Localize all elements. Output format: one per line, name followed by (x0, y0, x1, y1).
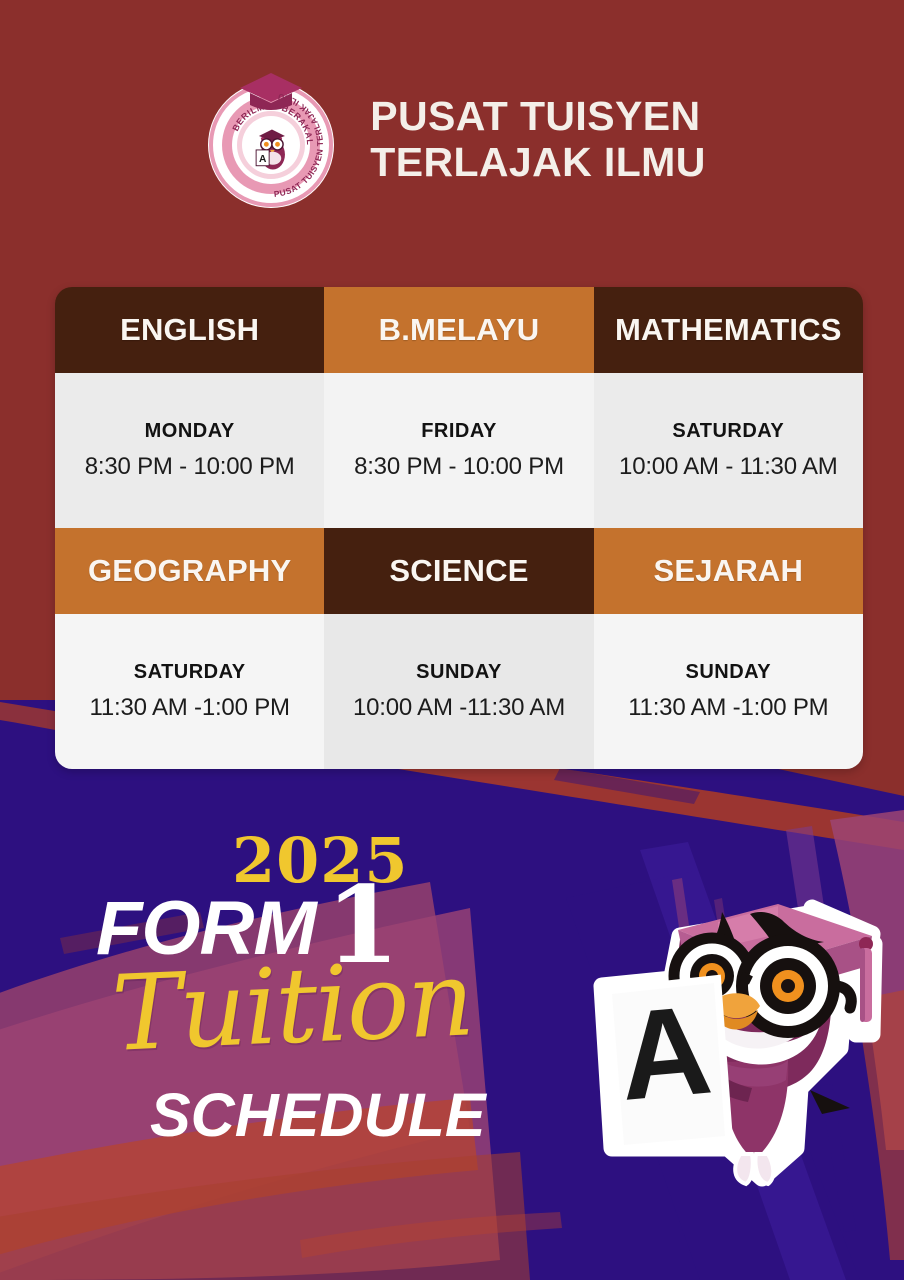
schedule-day: SATURDAY (134, 661, 246, 684)
brand-line-1: PUSAT TUISYEN (370, 93, 700, 139)
logo: PUSAT TUISYEN TERLAJAK ILMU BERILMU • BE… (198, 67, 344, 213)
poster-header: PUSAT TUISYEN TERLAJAK ILMU BERILMU • BE… (0, 52, 904, 227)
schedule-time: 10:00 AM - 11:30 AM (619, 453, 838, 481)
owl-card-icon: A (608, 978, 730, 1150)
poster-title-block: 2025 FORM 1 Tuition SCHEDULE (96, 830, 566, 1160)
subject-header-english: ENGLISH (55, 287, 324, 373)
subject-header-sejarah: SEJARAH (594, 528, 863, 614)
schedule-cell-english: MONDAY 8:30 PM - 10:00 PM (55, 373, 324, 528)
owl-mascot-icon: A (572, 848, 902, 1203)
academy-badge-icon: PUSAT TUISYEN TERLAJAK ILMU BERILMU • BE… (198, 67, 344, 213)
schedule-cell-mathematics: SATURDAY 10:00 AM - 11:30 AM (594, 373, 863, 528)
schedule-cell-geography: SATURDAY 11:30 AM -1:00 PM (55, 614, 324, 769)
schedule-time: 8:30 PM - 10:00 PM (85, 453, 295, 481)
owl-mascot: A (572, 848, 902, 1203)
subject-header-geography: GEOGRAPHY (55, 528, 324, 614)
schedule-time: 11:30 AM -1:00 PM (90, 694, 290, 722)
schedule-time: 10:00 AM -11:30 AM (353, 694, 565, 722)
schedule-day: FRIDAY (421, 420, 497, 443)
schedule-day: SATURDAY (672, 420, 784, 443)
brand-line-2: TERLAJAK ILMU (370, 140, 705, 186)
schedule-cell-science: SUNDAY 10:00 AM -11:30 AM (324, 614, 593, 769)
schedule-time: 11:30 AM -1:00 PM (628, 694, 828, 722)
schedule-day: SUNDAY (686, 661, 772, 684)
schedule-cell-bmelayu: FRIDAY 8:30 PM - 10:00 PM (324, 373, 593, 528)
brand-title: PUSAT TUISYEN TERLAJAK ILMU (370, 94, 705, 186)
title-schedule-word: SCHEDULE (150, 1085, 486, 1146)
schedule-day: MONDAY (145, 420, 235, 443)
subject-header-bmelayu: B.MELAYU (324, 287, 593, 373)
schedule-day: SUNDAY (416, 661, 502, 684)
subject-header-mathematics: MATHEMATICS (594, 287, 863, 373)
schedule-cell-sejarah: SUNDAY 11:30 AM -1:00 PM (594, 614, 863, 769)
schedule-time: 8:30 PM - 10:00 PM (354, 453, 564, 481)
logo-card-letter: A (259, 154, 267, 165)
title-tuition-script: Tuition (110, 946, 474, 1066)
poster-root: PUSAT TUISYEN TERLAJAK ILMU BERILMU • BE… (0, 0, 904, 1280)
schedule-table: ENGLISH B.MELAYU MATHEMATICS MONDAY 8:30… (55, 287, 863, 769)
subject-header-science: SCIENCE (324, 528, 593, 614)
owl-card-letter: A (614, 978, 717, 1126)
